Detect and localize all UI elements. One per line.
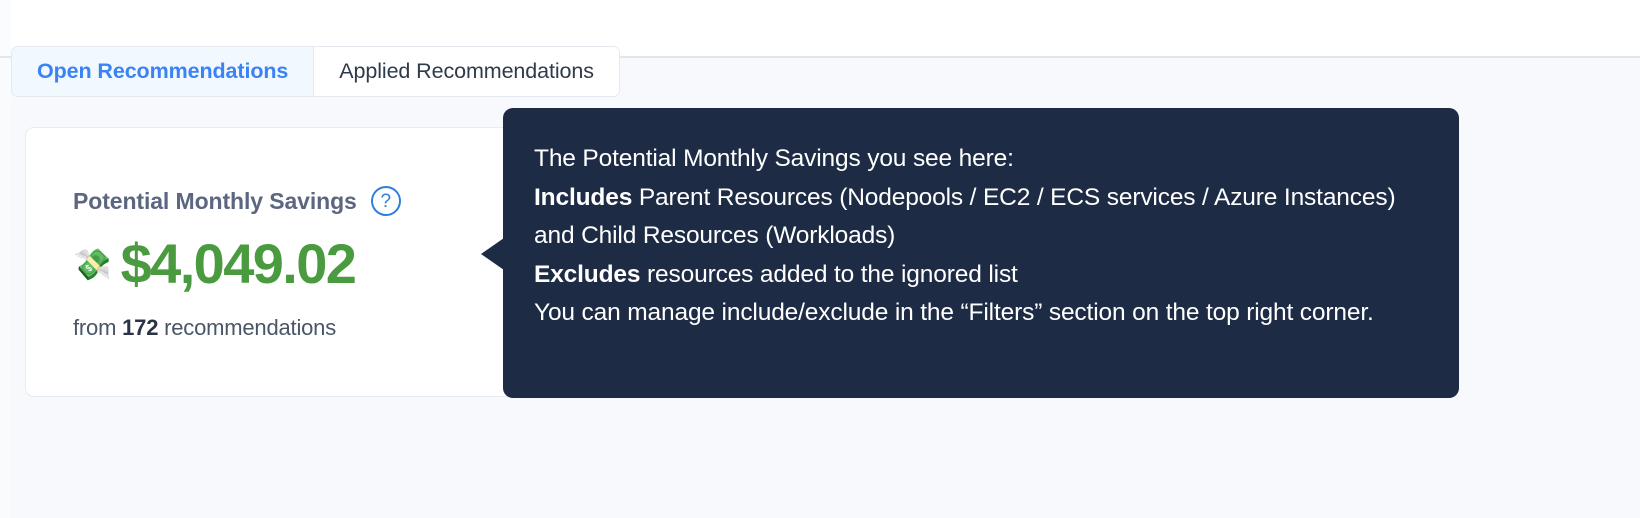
tooltip-line-2: Includes Parent Resources (Nodepools / E… (534, 179, 1431, 256)
tooltip-includes-text: Parent Resources (Nodepools / EC2 / ECS … (534, 184, 1395, 250)
savings-card-title: Potential Monthly Savings (73, 188, 357, 215)
savings-sub-prefix: from (73, 315, 122, 340)
tooltip-line-1: The Potential Monthly Savings you see he… (534, 140, 1431, 179)
question-mark-icon[interactable]: ? (371, 186, 401, 216)
page-left-rail (0, 58, 11, 518)
tooltip-content: The Potential Monthly Savings you see he… (534, 140, 1431, 333)
recommendations-tab-bar: Open Recommendations Applied Recommendat… (11, 46, 620, 97)
tooltip-line-4: You can manage include/exclude in the “F… (534, 294, 1431, 333)
tooltip-includes-label: Includes (534, 184, 632, 211)
tooltip-line-3: Excludes resources added to the ignored … (534, 256, 1431, 295)
money-with-wings-icon: 💸 (73, 249, 112, 280)
tooltip-excludes-label: Excludes (534, 261, 640, 288)
tooltip-excludes-text: resources added to the ignored list (640, 261, 1017, 288)
savings-amount-value: $4,049.02 (121, 236, 356, 292)
tooltip-arrow (481, 238, 504, 270)
tab-applied-recommendations[interactable]: Applied Recommendations (314, 47, 619, 96)
savings-sub-count: 172 (122, 315, 158, 340)
tab-open-recommendations[interactable]: Open Recommendations (12, 47, 314, 96)
header-left-rail (0, 0, 11, 56)
savings-sub-suffix: recommendations (158, 315, 336, 340)
savings-help-tooltip: The Potential Monthly Savings you see he… (503, 108, 1459, 398)
